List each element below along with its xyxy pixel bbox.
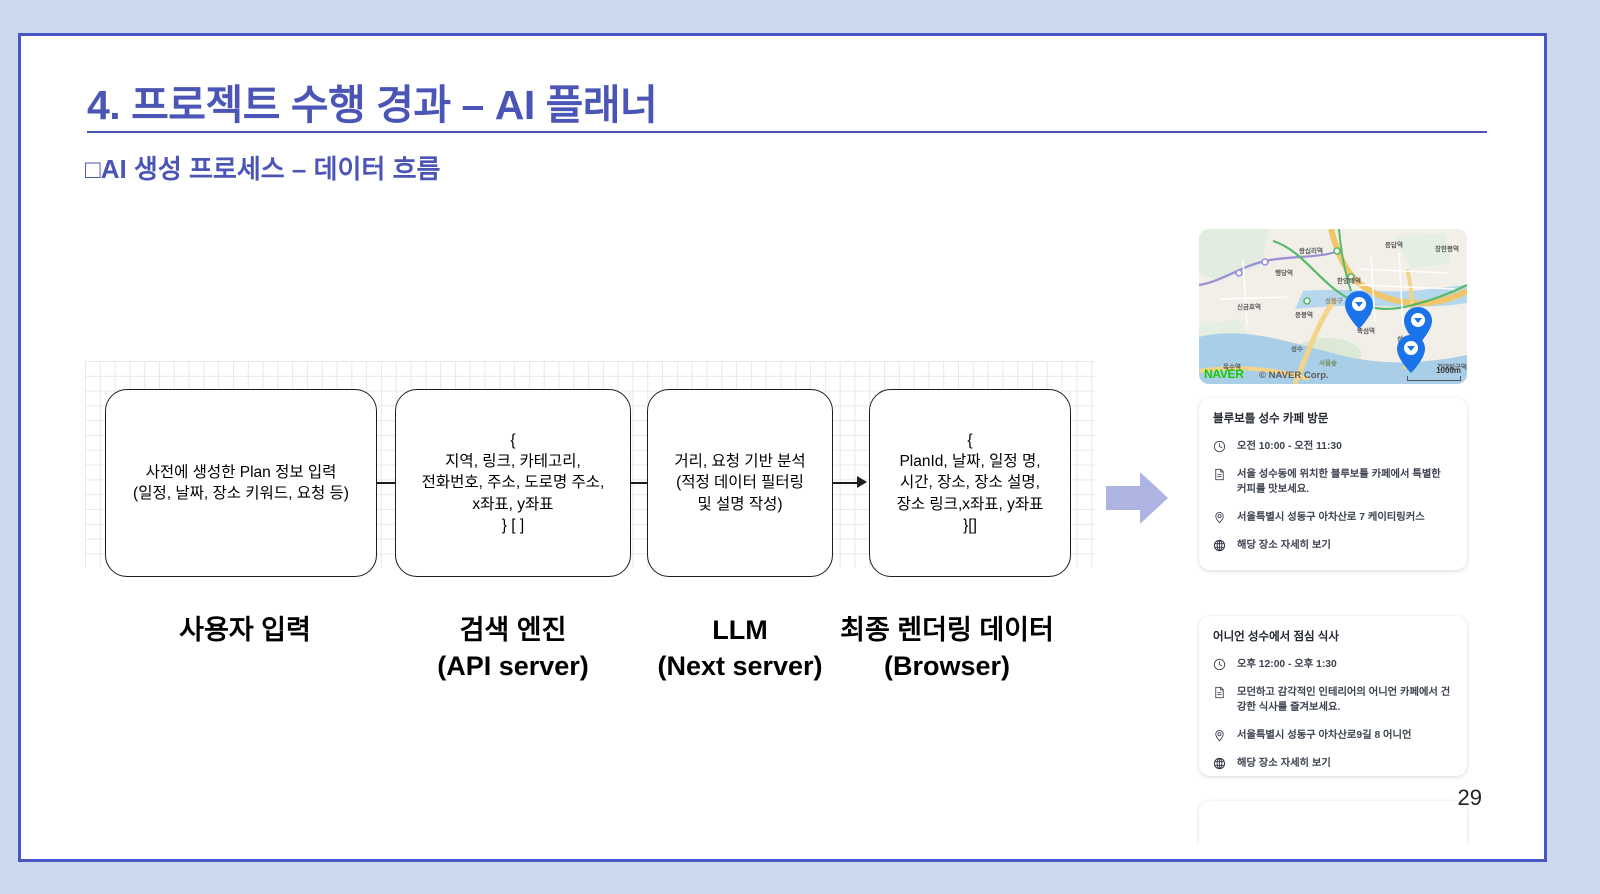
schedule-card-partial[interactable]: [1199, 801, 1467, 844]
node-2-line-4: x좌표, y좌표: [422, 494, 605, 515]
stage-caption-search-engine: 검색 엔진 (API server): [393, 612, 633, 685]
cap-3-sub: (Next server): [645, 648, 835, 684]
svg-text:응봉역: 응봉역: [1295, 310, 1313, 319]
card-row-time: 오전 10:00 - 오전 11:30: [1213, 440, 1453, 455]
node-2-line-2: 지역, 링크, 카테고리,: [422, 451, 605, 472]
results-panel: 왕십리역 응답역 장한평역 행당역 신금호역 한양대역 성동구 응봉역 뚝섬역 …: [1181, 196, 1471, 844]
svg-text:한양대역: 한양대역: [1337, 276, 1361, 285]
flow-node-search-engine: { 지역, 링크, 카테고리, 전화번호, 주소, 도로명 주소, x좌표, y…: [395, 389, 631, 577]
connector-3-arrowhead-icon: [857, 476, 867, 488]
node-4-line-1: {: [897, 430, 1044, 451]
card-row-description: 모던하고 감각적인 인테리어의 어니언 카페에서 건강한 식사를 즐겨보세요.: [1213, 686, 1453, 716]
node-4-line-4: 장소 링크,x좌표, y좌표: [897, 494, 1044, 515]
flow-node-llm: 거리, 요청 기반 분석 (적정 데이터 필터링 및 설명 작성): [647, 389, 833, 577]
card-row-address: 서울특별시 성동구 아차산로9길 8 어니언: [1213, 729, 1453, 744]
slide-canvas: 4. 프로젝트 수행 경과 – AI 플래너 □AI 생성 프로세스 – 데이터…: [18, 33, 1547, 862]
stage-caption-user-input: 사용자 입력: [105, 612, 385, 648]
connector-3: [833, 482, 859, 484]
cap-1-main: 사용자 입력: [179, 615, 311, 645]
stage-caption-render-data: 최종 렌더링 데이터 (Browser): [827, 612, 1067, 685]
node-2-line-1: {: [422, 430, 605, 451]
card-row-link[interactable]: 해당 장소 자세히 보기: [1213, 539, 1453, 554]
globe-icon: [1213, 539, 1237, 553]
svg-text:신금호역: 신금호역: [1237, 302, 1261, 311]
card-row-text: 모던하고 감각적인 인테리어의 어니언 카페에서 건강한 식사를 즐겨보세요.: [1237, 686, 1453, 716]
connector-2: [631, 482, 647, 484]
flow-diagram: 사전에 생성한 Plan 정보 입력 (일정, 날짜, 장소 키워드, 요청 등…: [85, 361, 1095, 568]
card-row-text: 서울특별시 성동구 아차산로9길 8 어니언: [1237, 729, 1411, 744]
svg-text:서울숲: 서울숲: [1319, 358, 1337, 367]
svg-text:성수: 성수: [1291, 344, 1303, 353]
card-row-address: 서울특별시 성동구 아차산로 7 케이티링커스: [1213, 511, 1453, 526]
card-row-text: 서울 성수동에 위치한 블루보틀 카페에서 특별한 커피를 맛보세요.: [1237, 468, 1453, 498]
cap-4-main: 최종 렌더링 데이터: [840, 615, 1054, 645]
card-row-text: 해당 장소 자세히 보기: [1237, 757, 1331, 772]
card-row-text: 오후 12:00 - 오후 1:30: [1237, 658, 1337, 673]
map-scale-bar: 1000m: [1407, 366, 1461, 381]
node-3-line-2: (적정 데이터 필터링: [674, 472, 805, 493]
card-row-text: 오전 10:00 - 오전 11:30: [1237, 440, 1342, 455]
cap-4-sub: (Browser): [827, 648, 1067, 684]
map-credit: © NAVER Corp.: [1259, 370, 1329, 381]
page-number: 29: [1458, 785, 1482, 811]
node-1-line-1: 사전에 생성한 Plan 정보 입력: [133, 462, 349, 483]
svg-text:왕십리역: 왕십리역: [1299, 246, 1323, 255]
section-subtitle: □AI 생성 프로세스 – 데이터 흐름: [85, 149, 440, 186]
node-4-line-3: 시간, 장소, 장소 설명,: [897, 472, 1044, 493]
node-3-line-3: 및 설명 작성): [674, 494, 805, 515]
clock-icon: [1213, 658, 1237, 672]
document-icon: [1213, 468, 1237, 482]
flow-node-user-input: 사전에 생성한 Plan 정보 입력 (일정, 날짜, 장소 키워드, 요청 등…: [105, 389, 377, 577]
naver-logo: NAVER: [1204, 367, 1244, 381]
node-3-line-1: 거리, 요청 기반 분석: [674, 451, 805, 472]
card-row-description: 서울 성수동에 위치한 블루보틀 카페에서 특별한 커피를 맛보세요.: [1213, 468, 1453, 498]
card-title: 어니언 성수에서 점심 식사: [1213, 630, 1453, 645]
location-pin-icon: [1213, 729, 1237, 743]
connector-1: [377, 482, 395, 484]
cap-2-sub: (API server): [393, 648, 633, 684]
flow-to-result-arrow-icon: [1106, 470, 1168, 526]
svg-text:성동구: 성동구: [1325, 296, 1343, 305]
node-2-line-5: } [ ]: [422, 515, 605, 536]
map-scale-line: [1407, 376, 1461, 381]
clock-icon: [1213, 440, 1237, 454]
card-row-text: 서울특별시 성동구 아차산로 7 케이티링커스: [1237, 511, 1425, 526]
globe-icon: [1213, 757, 1237, 771]
page-title: 4. 프로젝트 수행 경과 – AI 플래너: [87, 71, 657, 131]
node-4-line-5: }[]: [897, 515, 1044, 536]
card-row-time: 오후 12:00 - 오후 1:30: [1213, 658, 1453, 673]
title-divider: [87, 131, 1487, 133]
svg-text:행당역: 행당역: [1275, 268, 1293, 277]
node-1-line-2: (일정, 날짜, 장소 키워드, 요청 등): [133, 483, 349, 504]
stage-caption-llm: LLM (Next server): [645, 612, 835, 685]
flow-node-render-data: { PlanId, 날짜, 일정 명, 시간, 장소, 장소 설명, 장소 링크…: [869, 389, 1071, 577]
card-row-text: 해당 장소 자세히 보기: [1237, 539, 1331, 554]
location-pin-icon: [1213, 511, 1237, 525]
cap-3-main: LLM: [712, 615, 767, 645]
node-4-line-2: PlanId, 날짜, 일정 명,: [897, 451, 1044, 472]
document-icon: [1213, 686, 1237, 700]
map-scale-label: 1000m: [1436, 366, 1461, 375]
svg-text:장한평역: 장한평역: [1435, 244, 1459, 253]
map-graphic: 왕십리역 응답역 장한평역 행당역 신금호역 한양대역 성동구 응봉역 뚝섬역 …: [1199, 229, 1467, 384]
card-title: 블루보틀 성수 카페 방문: [1213, 412, 1453, 427]
svg-text:응답역: 응답역: [1385, 240, 1403, 249]
schedule-card[interactable]: 블루보틀 성수 카페 방문 오전 10:00 - 오전 11:30 서울 성수동…: [1199, 398, 1467, 570]
schedule-card[interactable]: 어니언 성수에서 점심 식사 오후 12:00 - 오후 1:30 모던하고 감…: [1199, 616, 1467, 776]
node-2-line-3: 전화번호, 주소, 도로명 주소,: [422, 472, 605, 493]
cap-2-main: 검색 엔진: [460, 615, 567, 645]
card-row-link[interactable]: 해당 장소 자세히 보기: [1213, 757, 1453, 772]
naver-map-preview[interactable]: 왕십리역 응답역 장한평역 행당역 신금호역 한양대역 성동구 응봉역 뚝섬역 …: [1199, 229, 1467, 384]
